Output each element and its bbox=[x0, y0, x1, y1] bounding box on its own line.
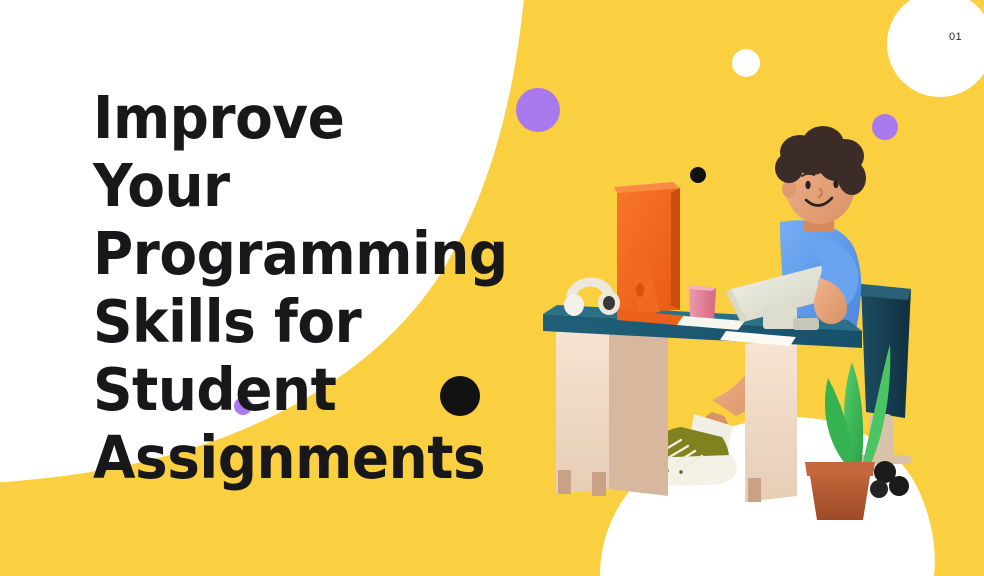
title-line-3: Programming bbox=[93, 220, 493, 288]
coffee-mug bbox=[688, 285, 716, 322]
desktop-monitor bbox=[614, 182, 688, 326]
page-title: Improve Your Programming Skills for Stud… bbox=[93, 84, 523, 492]
title-line-4: Skills for bbox=[93, 288, 493, 356]
title-line-2: Your bbox=[93, 152, 493, 220]
slide-canvas: Improve Your Programming Skills for Stud… bbox=[0, 0, 984, 576]
page-number: 01 bbox=[949, 31, 962, 43]
title-line-1: Improve bbox=[93, 84, 493, 152]
title-line-6: Assignments bbox=[93, 424, 493, 492]
title-line-5: Student bbox=[93, 356, 493, 424]
